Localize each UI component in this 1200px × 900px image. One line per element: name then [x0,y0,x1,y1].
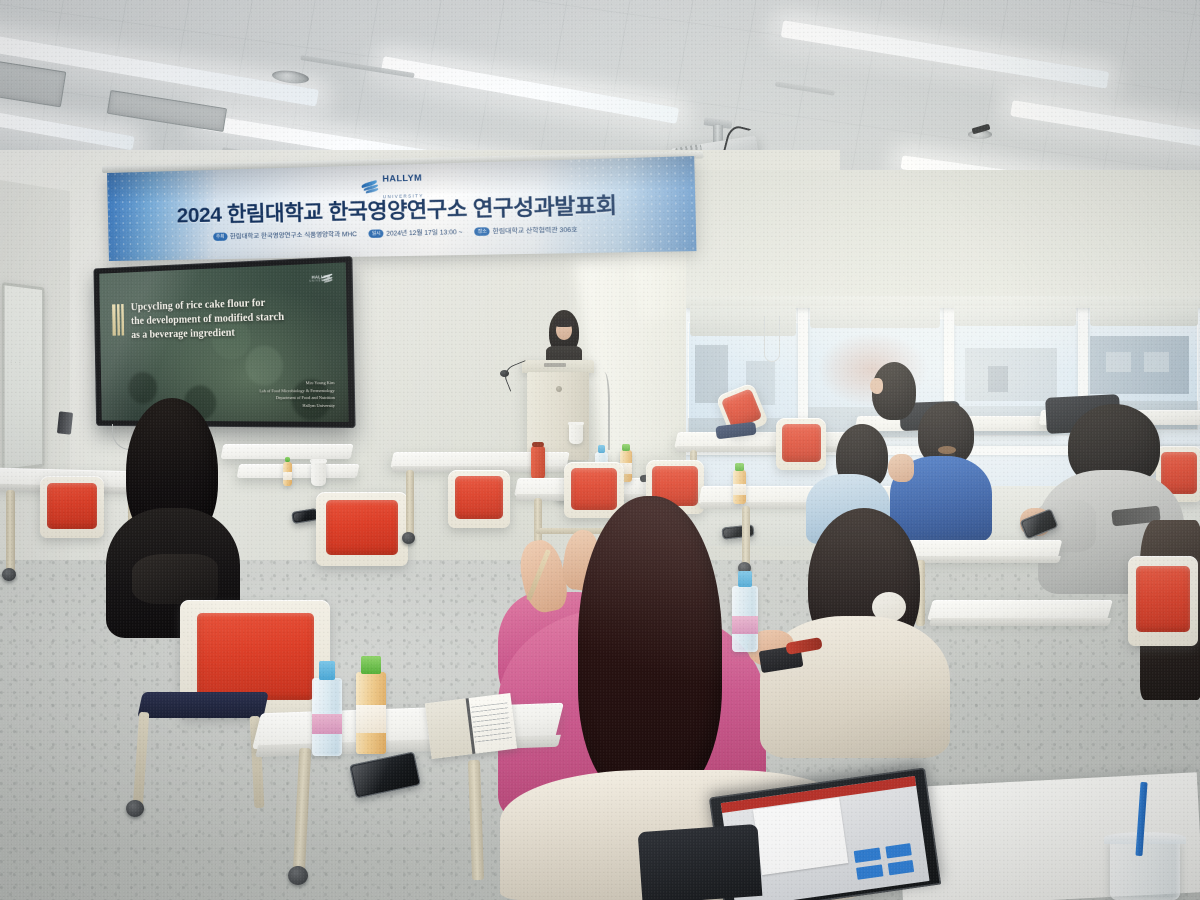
banner-venue-text: 한림대학교 산학협력관 306호 [493,224,578,235]
chair-caster [126,800,144,817]
chair-back[interactable] [638,824,763,900]
slide-title: Upcycling of rice cake flour for the dev… [131,295,295,342]
water-bottle[interactable] [732,586,758,652]
presenter-hair-front [554,318,574,327]
chair[interactable] [1128,556,1198,646]
desk-leg [6,490,15,572]
desk [927,600,1113,620]
slide-credits: Min-Young Kim Lab of Food Microbiology &… [259,380,335,410]
hair-tie [938,446,956,454]
banner-host-text: 한림대학교 한국영양연구소 식품영양학과 MHC [230,229,357,241]
window-blind[interactable] [1090,306,1198,326]
ui-tile [857,864,884,879]
document-page [753,797,848,874]
hallym-logo-name: HALLYM [382,172,422,183]
student-hair [578,496,722,796]
slide-title-line2: the development of modified starch [131,310,284,327]
banner-detail-venue: 장소 한림대학교 산학협력관 306호 [474,224,577,236]
whiteboard-marks: · · · [10,359,21,366]
chair-seat [137,692,269,718]
desk-caster [402,532,415,544]
banner-detail-datetime: 일시 2024년 12월 17일 13:00 ~ [368,227,462,238]
desk-leg [406,470,414,536]
ui-tile [888,860,915,875]
slide-hallym-logo: HALLYM UNIVERSITY [309,274,332,283]
banner-tag-venue: 장소 [474,227,490,236]
banner-tag-host: 주최 [213,232,228,240]
window-blind[interactable] [810,306,940,328]
seminar-room-photo: · · · HALLYM UNIVERSITY 2024 한림대학교 한국영양연… [0,0,1200,900]
chair[interactable] [316,492,408,566]
event-banner: HALLYM UNIVERSITY 2024 한림대학교 한국영양연구소 연구성… [107,156,696,261]
juice-bottle[interactable] [356,672,386,754]
desk-caster [288,866,308,885]
window-blind[interactable] [690,306,796,336]
red-tumbler[interactable] [531,446,545,480]
desk-caster [2,568,16,581]
podium-knob[interactable] [556,386,562,392]
student-cream-jacket [760,508,950,758]
banner-detail-host: 주최 한림대학교 한국영양연구소 식품영양학과 MHC [213,229,357,241]
desk [237,464,360,478]
banner-tag-datetime: 일시 [368,229,383,238]
right-upper-wall [686,170,1200,298]
student-face [870,378,883,394]
slide-university: Hallym University [302,403,335,408]
ui-tile [885,843,912,858]
water-bottle[interactable] [312,678,342,756]
paper-cup[interactable] [311,462,326,486]
banner-datetime-text: 2024년 12월 17일 13:00 ~ [386,227,462,238]
podium-cable [596,372,610,450]
desk-edge [929,618,1111,626]
whiteboard: · · · [2,282,44,472]
slide-presenter: Min-Young Kim [306,381,335,386]
presenter-at-podium [544,310,584,366]
iced-drink-cup[interactable] [1110,840,1180,900]
podium-label [544,363,566,367]
display-wall-mount [57,411,73,434]
ui-tile [854,847,881,862]
slide-lab: Lab of Food Microbiology & Fermentology [259,388,335,393]
window-blind[interactable] [954,306,1076,326]
slide-accent-bars [112,304,124,336]
blind-cord[interactable] [764,316,780,362]
student-hand [888,454,914,482]
hallym-emblem-icon [361,178,379,194]
paper-cup[interactable] [569,424,583,444]
open-notebook[interactable] [425,693,517,759]
chair[interactable] [40,476,104,538]
juice-bottle[interactable] [283,462,292,486]
slide-title-line3: as a beverage ingredient [131,326,235,341]
microphone[interactable] [500,370,509,377]
slide-department: Department of Food and Nutrition [276,395,335,400]
student-coat-fold [132,554,218,604]
